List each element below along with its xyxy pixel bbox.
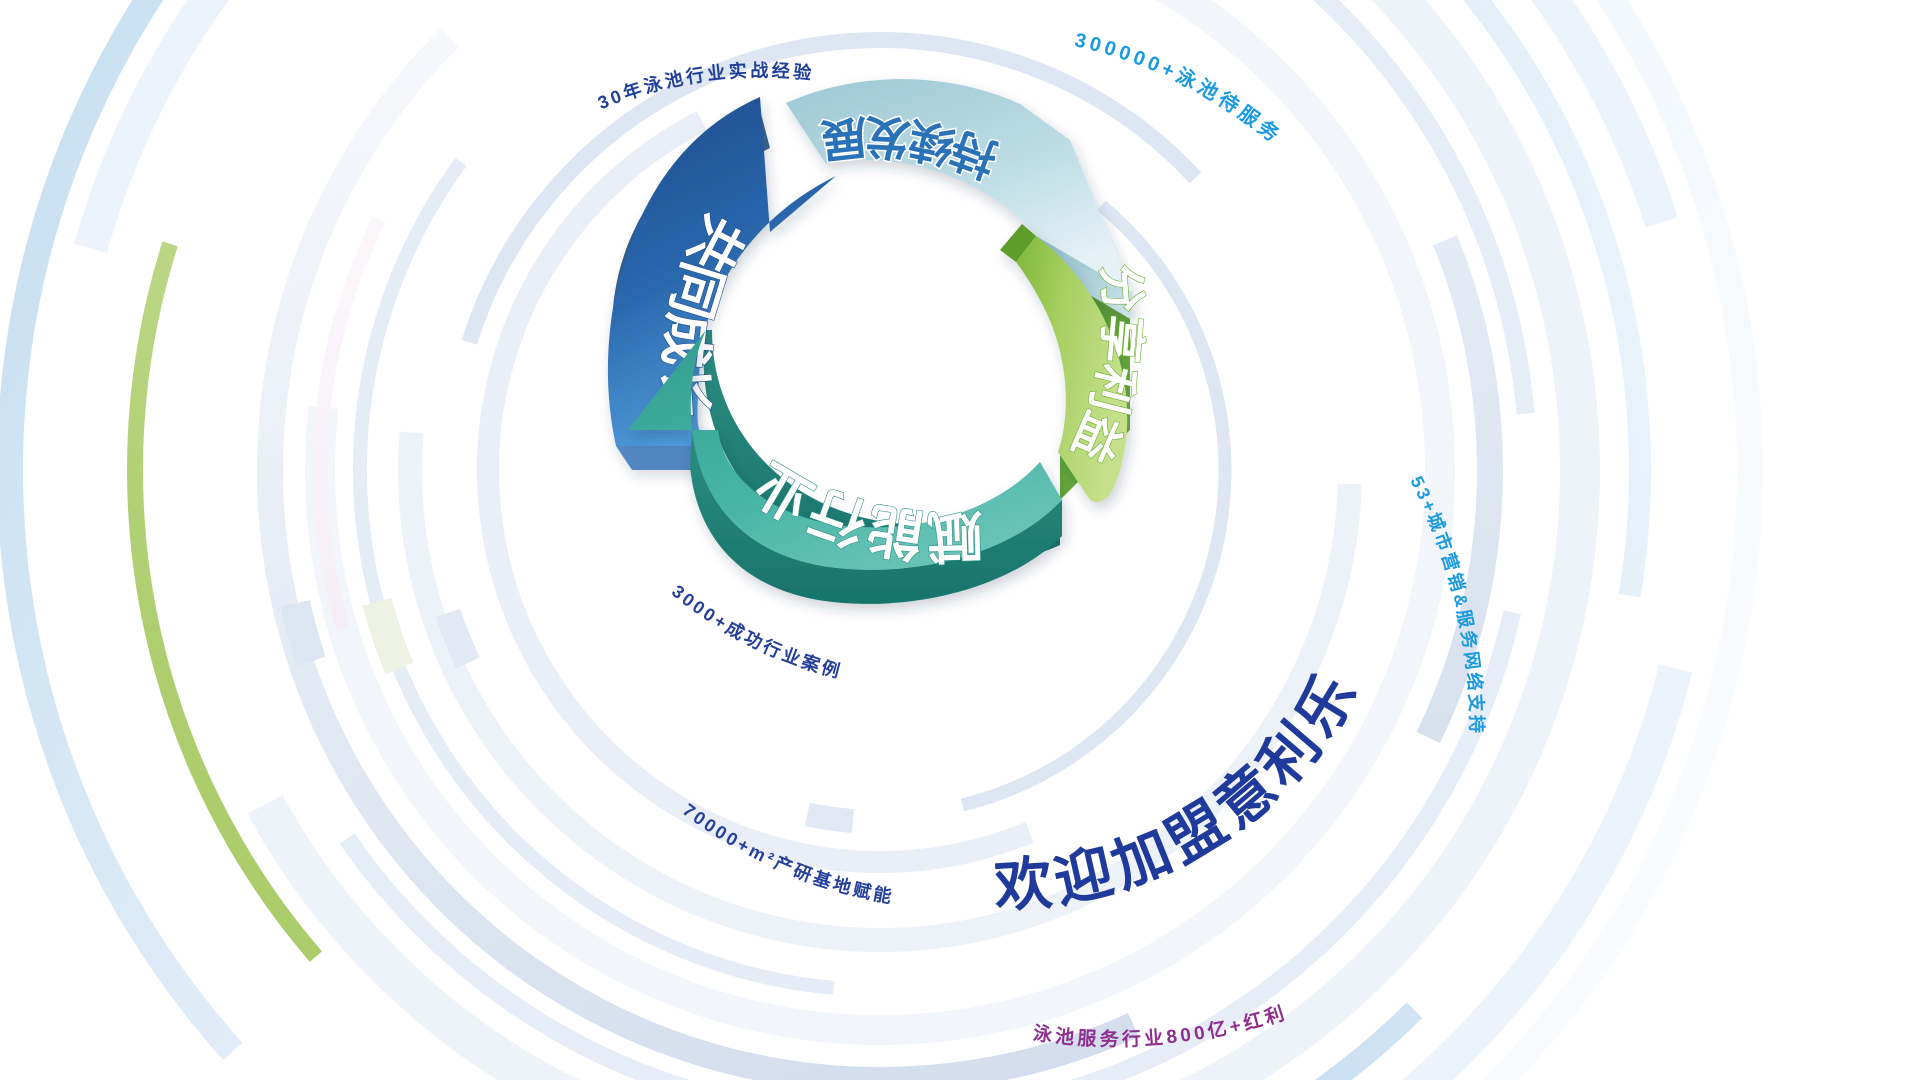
callout-market: 泳池服务行业800亿+红利 <box>1032 1002 1290 1051</box>
callout-experience: 30年泳池行业实战经验 <box>595 60 816 114</box>
infographic-canvas: { "meta": { "title": "泳池服务行业加盟信息图", "bac… <box>0 0 1920 1080</box>
callout-base: 70000+m²产研基地赋能 <box>679 800 896 908</box>
callout-label-layer: 30年泳池行业实战经验 300000+泳池待服务 53+城市营销&服务网络支持 … <box>0 0 1920 1080</box>
headline-welcome-join: 欢迎加盟意利乐 <box>991 659 1372 919</box>
callout-pools: 300000+泳池待服务 <box>1073 29 1287 148</box>
callout-cases: 3000+成功行业案例 <box>668 581 845 682</box>
callout-network: 53+城市营销&服务网络支持 <box>1406 473 1487 736</box>
